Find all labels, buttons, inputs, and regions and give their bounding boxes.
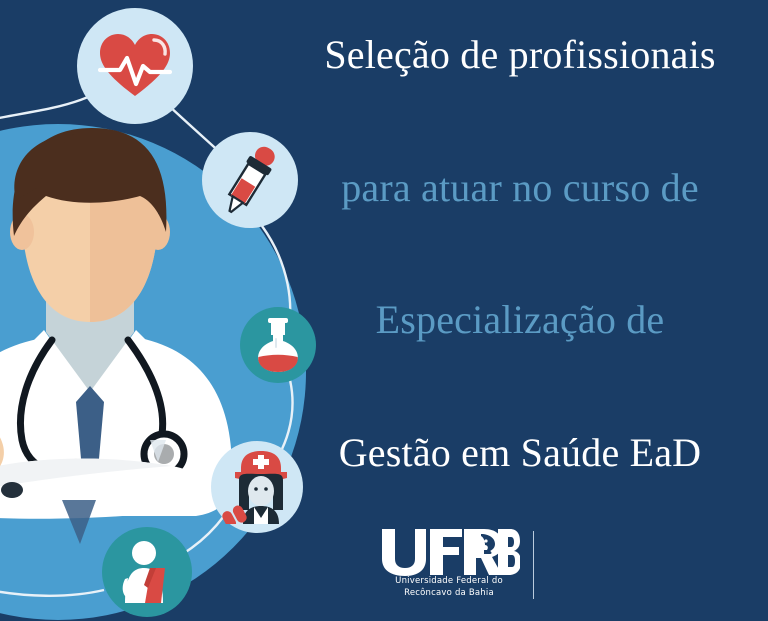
ufrb-subtitle-line-1: Universidade Federal do xyxy=(380,575,518,587)
arm-sling-icon xyxy=(117,541,177,603)
ufrb-logo: Universidade Federal do Recôncavo da Bah… xyxy=(380,525,580,605)
logo-face-eye xyxy=(484,539,487,542)
dropper-icon xyxy=(214,141,286,219)
nurse-eye-left xyxy=(254,487,258,491)
arm-sling-icon-node[interactable] xyxy=(102,527,192,617)
logo-divider xyxy=(533,531,534,599)
heart-pulse-icon-node[interactable] xyxy=(77,8,193,124)
logo-letter-r-face xyxy=(464,529,502,575)
logo-letter-b-counter-bottom xyxy=(508,555,515,567)
poster-canvas: Seleção de profissionais para atuar no c… xyxy=(0,0,768,621)
logo-letter-b xyxy=(498,529,520,575)
nurse-icon xyxy=(221,450,293,524)
nurse-face xyxy=(248,476,274,506)
logo-letter-b-counter-top xyxy=(508,537,514,547)
ufrb-logo-subtitle: Universidade Federal do Recôncavo da Bah… xyxy=(380,575,518,600)
flask-rim xyxy=(268,318,288,323)
patient-head xyxy=(132,541,156,565)
ufrb-subtitle-line-2: Recôncavo da Bahia xyxy=(380,587,518,599)
flask-icon xyxy=(254,317,302,373)
logo-letter-f xyxy=(430,529,462,575)
nurse-cap-cross-h xyxy=(253,459,269,465)
logo-letter-u xyxy=(382,529,426,576)
flask-liquid xyxy=(258,355,298,372)
heart-pulse-icon xyxy=(98,32,172,100)
nurse-eye-right xyxy=(264,487,268,491)
flask-icon-node[interactable] xyxy=(240,307,316,383)
nurse-icon-node[interactable] xyxy=(211,441,303,533)
dropper-icon-node[interactable] xyxy=(202,132,298,228)
ufrb-wordmark xyxy=(380,525,520,577)
